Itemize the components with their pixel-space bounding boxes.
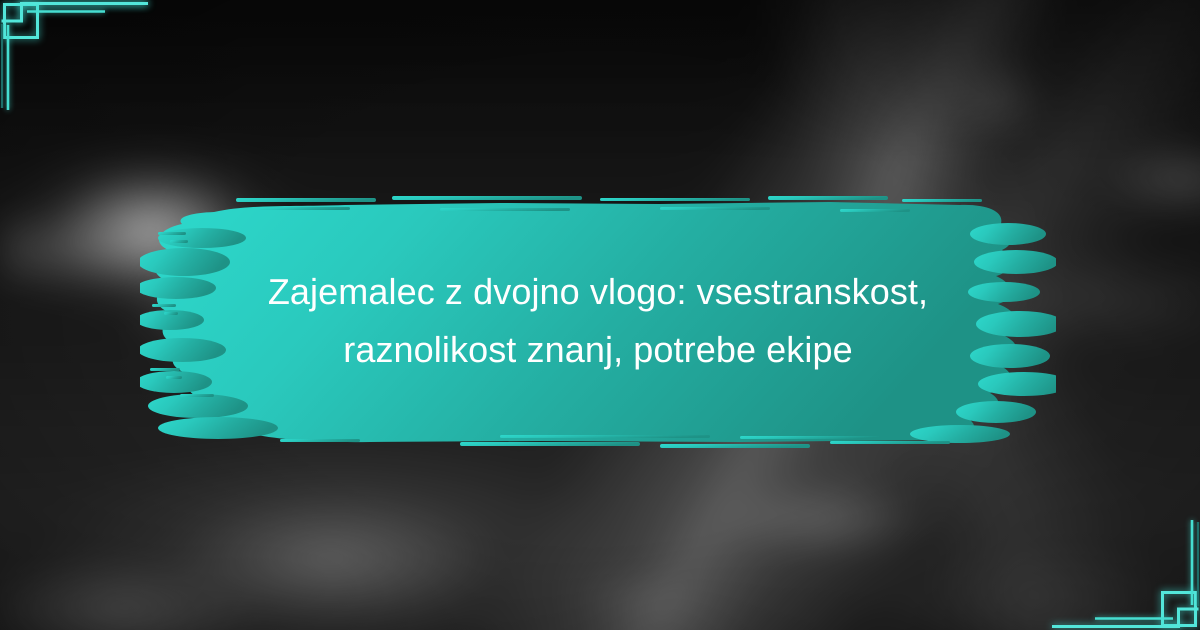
headline-line-1: Zajemalec z dvojno vlogo: vsestranskost, (268, 263, 928, 321)
headline-line-2: raznolikost znanj, potrebe ekipe (343, 321, 853, 379)
headline-text-block: Zajemalec z dvojno vlogo: vsestranskost,… (150, 192, 1046, 450)
social-card: Zajemalec z dvojno vlogo: vsestranskost,… (0, 0, 1200, 630)
